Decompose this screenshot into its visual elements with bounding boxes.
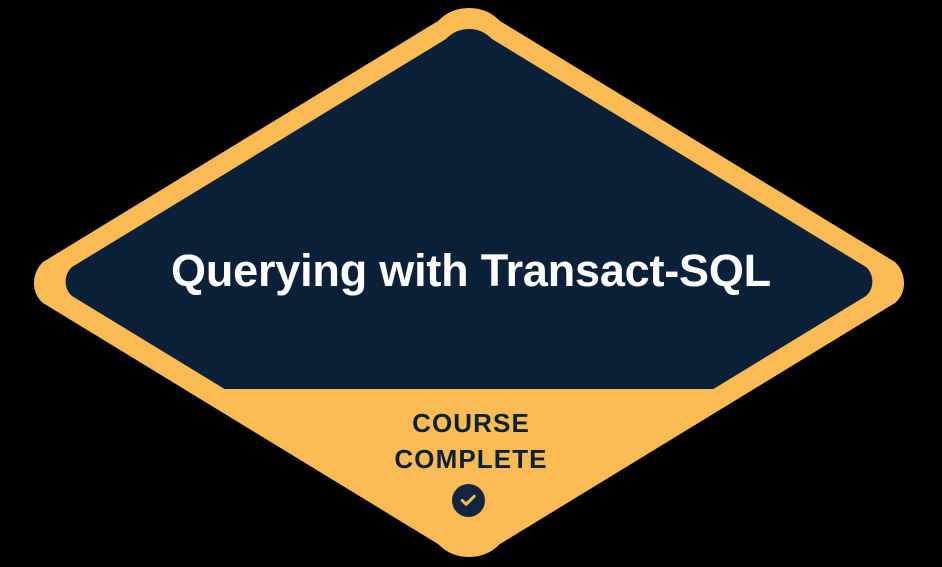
diamond-inner-panel (0, 0, 942, 389)
badge-stage: Querying with Transact-SQL COURSE COMPLE… (0, 0, 942, 567)
check-glyph-icon (459, 491, 478, 510)
check-circle-icon (452, 484, 485, 517)
diamond-badge-graphic (0, 0, 942, 567)
